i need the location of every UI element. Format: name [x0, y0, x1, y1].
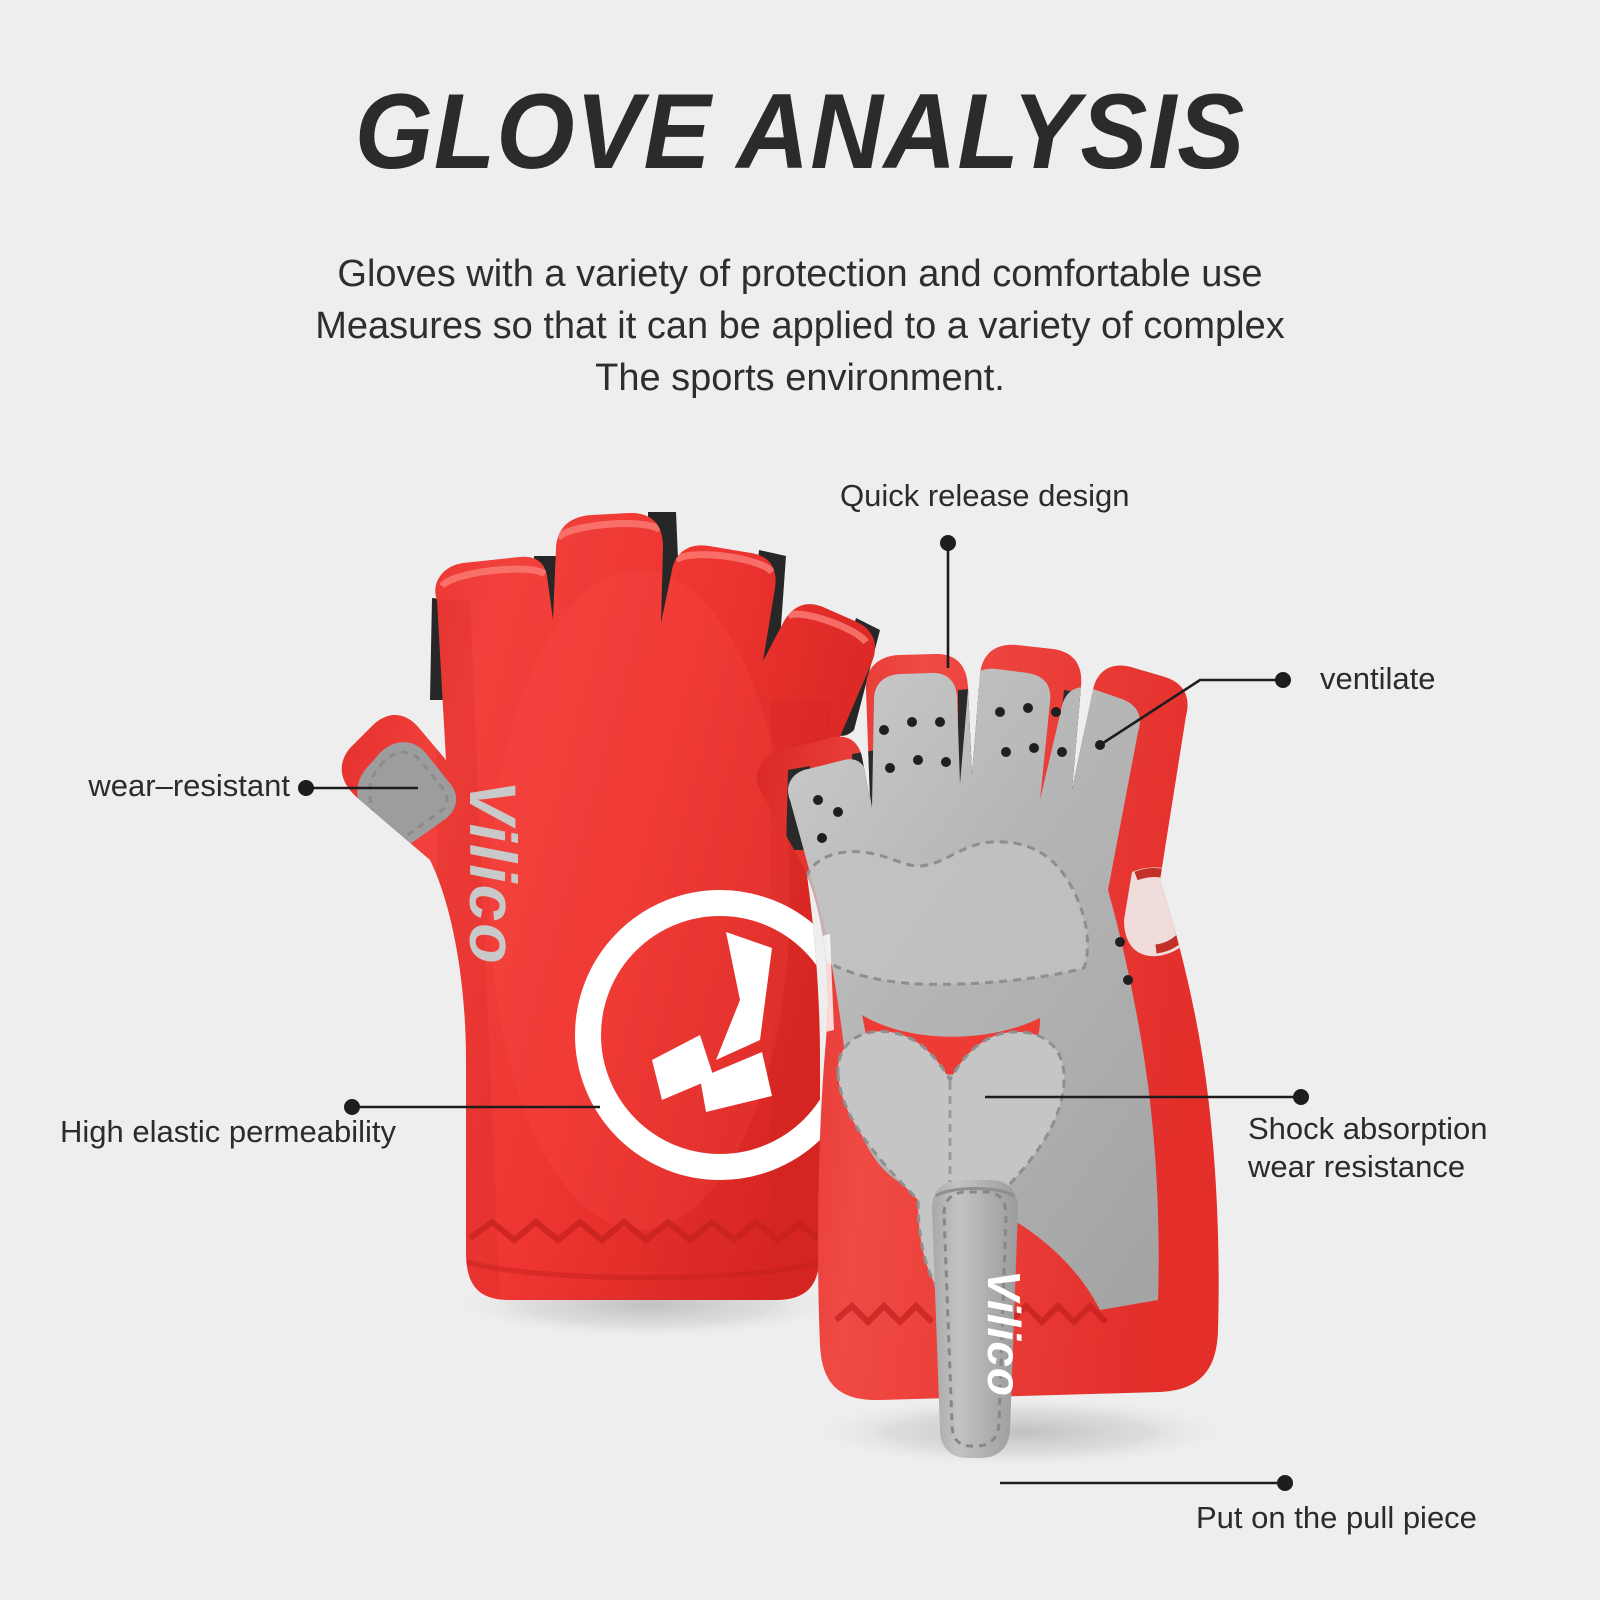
dot-shock-absorption	[1293, 1089, 1309, 1105]
shadow-left-glove	[448, 1271, 848, 1339]
subtitle-line-2: Measures so that it can be applied to a …	[0, 300, 1600, 352]
right-glove-brand-text: Vilico	[978, 1270, 1030, 1397]
callout-high-elastic-permeability[interactable]: High elastic permeability	[60, 1112, 396, 1151]
dot-quick-release	[940, 535, 956, 551]
callout-quick-release-design[interactable]: Quick release design	[840, 476, 1130, 515]
dot-ventilate	[1275, 672, 1291, 688]
right-glove-pull-tab: Vilico	[932, 1180, 1030, 1458]
callout-wear-resistant[interactable]: wear–resistant	[0, 766, 290, 805]
left-glove-body	[342, 513, 875, 1300]
callout-put-on-the-pull-piece[interactable]: Put on the pull piece	[1196, 1498, 1477, 1537]
right-glove-ventilation-holes	[813, 703, 1133, 985]
infographic-canvas: GLOVE ANALYSIS Gloves with a variety of …	[0, 0, 1600, 1600]
right-glove-cuff-stitch-right	[1010, 1306, 1106, 1322]
left-glove-cuff-stitch	[470, 1222, 818, 1240]
left-glove-logo-circle	[588, 903, 852, 1167]
callout-shock-absorption-line-1: Shock absorption	[1248, 1110, 1488, 1148]
right-glove-red-body	[757, 645, 1219, 1400]
callout-shock-absorption-line-2: wear resistance	[1248, 1148, 1488, 1186]
right-glove-gel-pad	[838, 1031, 1064, 1312]
right-glove-upper-pad	[803, 842, 1087, 984]
dot-put-on-pull	[1277, 1475, 1293, 1491]
left-glove-red-back: Vilico	[342, 512, 880, 1300]
page-subtitle: Gloves with a variety of protection and …	[0, 248, 1600, 404]
subtitle-line-3: The sports environment.	[0, 352, 1600, 404]
callout-shock-absorption[interactable]: Shock absorption wear resistance	[1248, 1110, 1488, 1186]
dot-ventilate-anchor	[1095, 740, 1105, 750]
dot-wear-resistant	[298, 780, 314, 796]
right-glove-thumb-opening	[1124, 867, 1197, 956]
page-title: GLOVE ANALYSIS	[48, 78, 1552, 185]
left-glove-thumb-patch	[357, 742, 456, 857]
left-glove-finger-webbing	[430, 512, 880, 736]
left-glove-finger-hems	[442, 524, 866, 642]
right-glove-palm-panel	[788, 669, 1159, 1310]
callout-ventilate[interactable]: ventilate	[1320, 659, 1435, 698]
left-glove-brand-text: Vilico	[456, 780, 530, 966]
subtitle-line-1: Gloves with a variety of protection and …	[0, 248, 1600, 300]
right-glove-red-gusset	[862, 1015, 1040, 1074]
right-glove-palm: Vilico	[757, 645, 1219, 1458]
right-glove-finger-webbing	[786, 688, 1088, 850]
leader-ventilate	[1100, 680, 1283, 745]
right-glove-cuff-stitch-left	[836, 1306, 932, 1322]
shadow-right-glove	[805, 1396, 1235, 1468]
